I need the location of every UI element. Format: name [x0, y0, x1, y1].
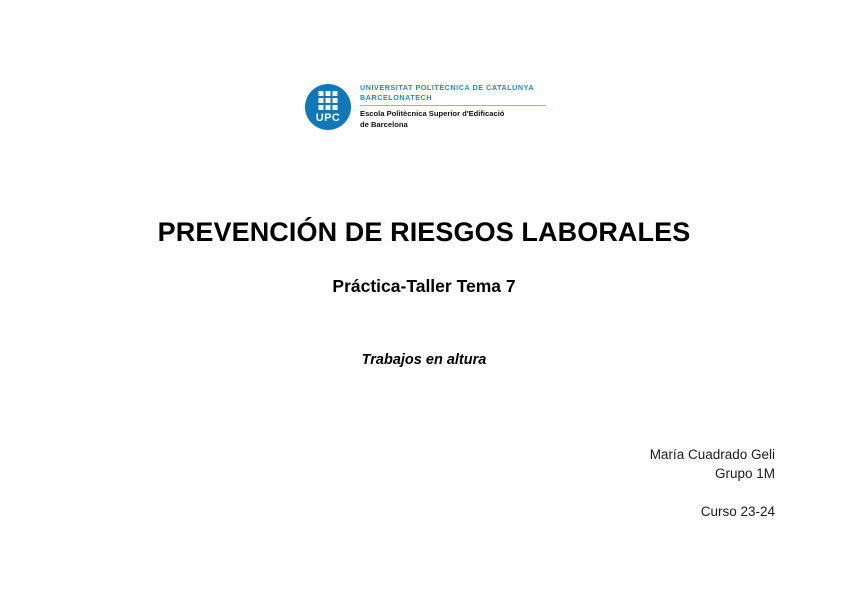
author-block-spacer [650, 483, 775, 502]
upc-logo: UPC UNIVERSITAT POLITÈCNICA DE CATALUNYA… [305, 82, 555, 136]
document-title: PREVENCIÓN DE RIESGOS LABORALES [0, 216, 848, 248]
document-page: UPC UNIVERSITAT POLITÈCNICA DE CATALUNYA… [0, 0, 848, 600]
upc-dot [333, 105, 338, 110]
author-group: Grupo 1M [650, 464, 775, 483]
logo-university-line-2: BARCELONATECH [360, 93, 546, 103]
author-block: María Cuadrado Geli Grupo 1M Curso 23-24 [650, 445, 775, 521]
upc-dot [326, 105, 331, 110]
upc-dot [319, 98, 324, 103]
upc-dot [333, 91, 338, 96]
upc-logo-mark-icon: UPC [305, 84, 351, 130]
upc-dot [326, 98, 331, 103]
author-course: Curso 23-24 [650, 502, 775, 521]
logo-text-column: UNIVERSITAT POLITÈCNICA DE CATALUNYA BAR… [360, 82, 546, 130]
logo-university-line-1: UNIVERSITAT POLITÈCNICA DE CATALUNYA [360, 83, 546, 93]
upc-dot [326, 91, 331, 96]
upc-dot [319, 105, 324, 110]
logo-divider [360, 105, 546, 106]
author-name: María Cuadrado Geli [650, 445, 775, 464]
upc-dot [333, 98, 338, 103]
logo-school-line-1: Escola Politècnica Superior d'Edificació [360, 109, 546, 120]
upc-dot-grid-icon [319, 91, 338, 110]
upc-dot [319, 91, 324, 96]
logo-school-line-2: de Barcelona [360, 120, 546, 131]
document-topic: Trabajos en altura [0, 350, 848, 370]
document-subtitle: Práctica-Taller Tema 7 [0, 275, 848, 297]
upc-acronym-label: UPC [305, 113, 351, 124]
